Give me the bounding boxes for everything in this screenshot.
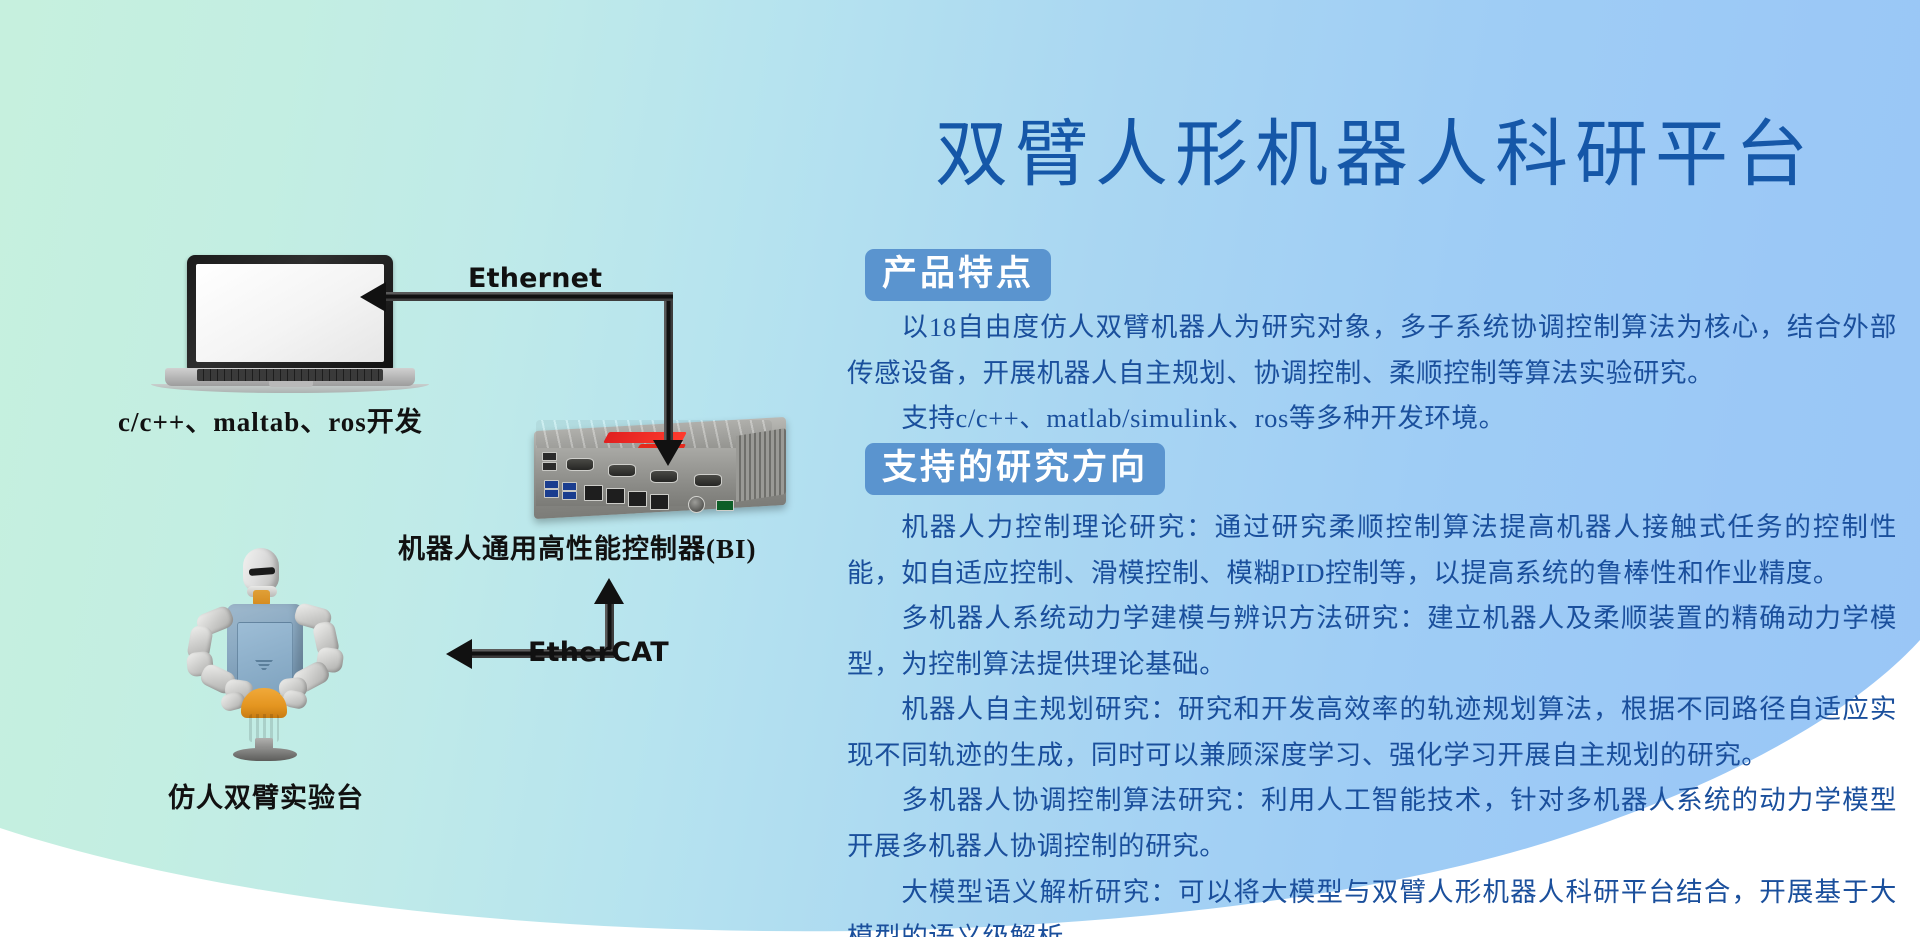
directions-body: 机器人力控制理论研究：通过研究柔顺控制算法提高机器人接触式任务的控制性能，如自适… [847,505,1897,937]
serial-port-db9 [566,458,594,471]
usb-port [542,452,557,461]
status-led [716,500,734,511]
controller-label: 机器人通用高性能控制器(BI) [398,527,757,566]
robot-label: 仿人双臂实验台 [168,776,364,815]
paragraph: 机器人自主规划研究：研究和开发高效率的轨迹规划算法，根据不同路径自适应实现不同轨… [847,687,1897,778]
robot-pedestal [233,748,297,761]
ethernet-port [628,491,647,507]
ethernet-port [584,485,603,501]
section-badge-features: 产品特点 [865,249,1051,301]
paragraph: 多机器人协调控制算法研究：利用人工智能技术，针对多机器人系统的动力学模型开展多机… [847,778,1897,869]
usb-port [542,462,557,471]
controller-illustration [520,418,800,528]
usb3-port [544,480,559,489]
page-title: 双臂人形机器人科研平台 [845,118,1905,191]
ethernet-port [650,494,669,510]
features-body: 以18自由度仿人双臂机器人为研究对象，多子系统协调控制算法为核心，结合外部传感设… [847,305,1897,442]
robot-illustration [175,548,365,763]
power-connector [688,496,705,513]
system-diagram: c/c++、maltab、ros开发 机器人通 [0,0,850,937]
laptop-illustration [165,255,415,395]
paragraph: 机器人力控制理论研究：通过研究柔顺控制算法提高机器人接触式任务的控制性能，如自适… [847,505,1897,596]
serial-port-db9 [650,470,678,483]
section-badge-directions: 支持的研究方向 [865,443,1165,495]
ethernet-link-vertical [664,292,673,450]
usb3-port [562,491,577,500]
paragraph: 大模型语义解析研究：可以将大模型与双臂人形机器人科研平台结合，开展基于大模型的语… [847,870,1897,937]
laptop-lid [187,255,393,370]
laptop-screen [196,264,384,362]
ethercat-arrowhead [446,639,472,669]
serial-port-db9 [608,464,636,477]
laptop-trackpad [269,381,313,387]
usb3-port [562,482,577,491]
ethercat-label: EtherCAT [528,637,669,668]
ethercat-arrowhead-up [594,578,624,604]
paragraph: 多机器人系统动力学建模与辨识方法研究：建立机器人及柔顺装置的精确动力学模型，为控… [847,596,1897,687]
poster-canvas: c/c++、maltab、ros开发 机器人通 [0,0,1920,937]
ethernet-arrowhead-down [653,440,683,466]
ethernet-port [606,488,625,504]
paragraph: 以18自由度仿人双臂机器人为研究对象，多子系统协调控制算法为核心，结合外部传感设… [847,305,1897,396]
ethernet-label: Ethernet [468,263,602,294]
ethernet-arrowhead [360,282,386,312]
serial-port-db9 [694,474,722,487]
laptop-label: c/c++、maltab、ros开发 [118,400,423,439]
usb3-port [544,489,559,498]
controller-heatsink [736,428,786,502]
content-column: 双臂人形机器人科研平台 产品特点 以18自由度仿人双臂机器人为研究对象，多子系统… [835,0,1920,937]
paragraph: 支持c/c++、matlab/simulink、ros等多种开发环境。 [847,396,1897,442]
laptop-keyboard [197,369,383,381]
